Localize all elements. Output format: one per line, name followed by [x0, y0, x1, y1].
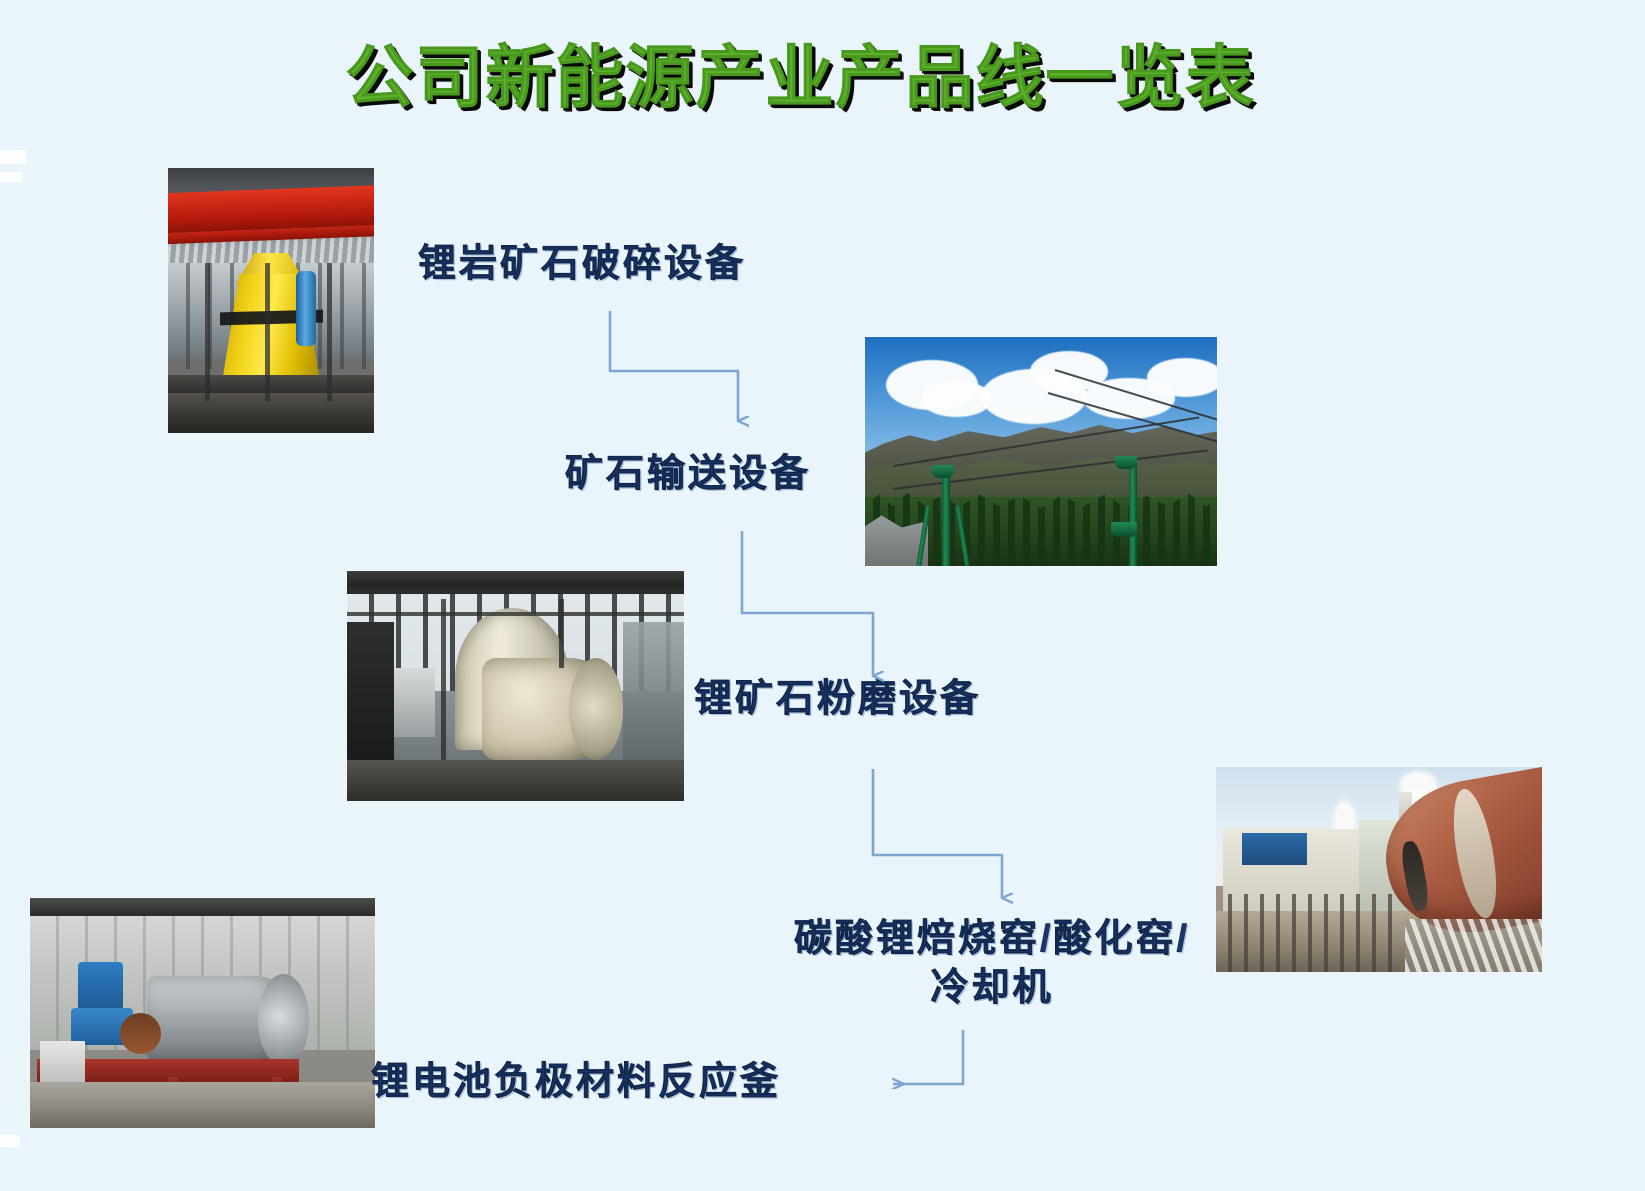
blue-facade [1242, 833, 1307, 866]
workshop-floor [168, 393, 374, 433]
right-structure [623, 622, 684, 765]
blue-motor [78, 962, 123, 1013]
ceiling-beam [347, 587, 684, 594]
connector-conveyor-to-grinding [742, 531, 873, 676]
step-label-kiln: 碳酸锂焙烧窑/酸化窑/ 冷却机 [757, 915, 1227, 1012]
step-label-conveyor: 矿石输送设备 [565, 450, 811, 499]
connector-grinding-to-kiln [873, 769, 1002, 898]
ceiling-beam [347, 571, 684, 587]
ropeway-photo [865, 337, 1217, 566]
edge-artifact-strip [0, 172, 22, 182]
edge-artifact-strip [0, 150, 26, 164]
step-label-kiln-line1: 碳酸锂焙烧窑/酸化窑/ [794, 918, 1190, 960]
roof-beam [30, 898, 375, 916]
step-label-reactor: 锂电池负极材料反应釜 [371, 1058, 781, 1107]
ropeway-bucket [932, 465, 954, 478]
slide-canvas: 公司新能源产业产品线一览表 [0, 0, 1645, 1191]
cloud [1147, 358, 1217, 397]
dark-equipment-column [347, 622, 394, 783]
ropeway-tower [1129, 465, 1137, 566]
control-box [394, 668, 434, 737]
kiln-photo [1216, 767, 1542, 972]
slide-title: 公司新能源产业产品线一览表 [0, 44, 1645, 112]
ropeway-bucket [1115, 456, 1137, 469]
step-label-crusher: 锂岩矿石破碎设备 [418, 240, 746, 289]
support-post [265, 263, 270, 401]
pipe-rack [1216, 894, 1399, 972]
connector-crusher-to-conveyor [610, 311, 738, 421]
support-post [205, 263, 210, 401]
connector-kiln-to-reactor [893, 1030, 963, 1084]
blue-cylinder [296, 271, 317, 345]
ropeway-bucket [1111, 522, 1137, 537]
step-label-kiln-line2: 冷却机 [930, 967, 1053, 1009]
yard-floor [30, 1082, 375, 1128]
plant-floor [347, 760, 684, 801]
kiln-piping [1405, 919, 1542, 972]
kettle-photo [30, 898, 375, 1128]
edge-artifact-strip [0, 1135, 20, 1147]
ball-mill-end-cap [569, 658, 623, 759]
crusher-photo [168, 168, 374, 433]
overhead-pipe [347, 612, 684, 616]
control-cabinet [40, 1041, 85, 1087]
vertical-pipe [559, 599, 564, 668]
slide-title-text: 公司新能源产业产品线一览表 [345, 44, 1255, 112]
step-label-grinding: 锂矿石粉磨设备 [694, 675, 981, 724]
vertical-pipe [441, 599, 446, 760]
support-post [327, 263, 332, 401]
ropeway-tower [942, 474, 950, 566]
ballmill-photo [347, 571, 684, 801]
reactor-end-cap [258, 974, 310, 1066]
